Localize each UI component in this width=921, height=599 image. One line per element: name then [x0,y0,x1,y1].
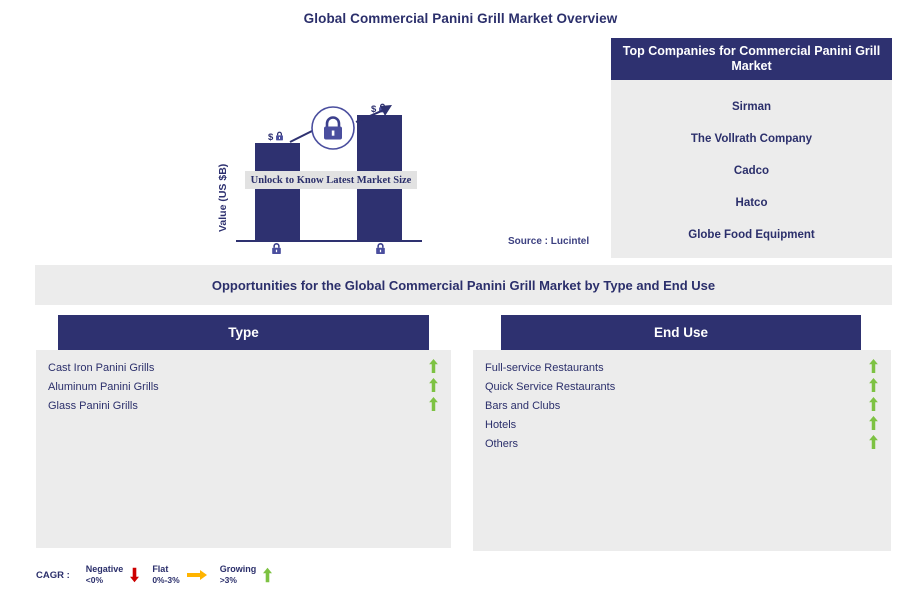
unlock-market-size-banner[interactable]: Unlock to Know Latest Market Size [245,171,417,189]
type-panel-header: Type [58,315,429,350]
cagr-legend-title: CAGR : [36,570,70,581]
arrow-up-icon [429,359,438,376]
arrow-up-icon [869,416,878,433]
bar-1-currency: $ [268,132,273,143]
page-title: Global Commercial Panini Grill Market Ov… [0,11,921,26]
lock-circle-icon [310,105,356,151]
chart-y-axis-label: Value (US $B) [214,152,232,244]
legend-growing-label: Growing [220,564,257,574]
list-item: Glass Panini Grills [36,396,451,415]
x-axis-lock-icon-1 [268,241,284,255]
end-use-item-label: Others [485,438,518,450]
end-use-item-label: Hotels [485,419,516,431]
x-axis-lock-icon-2 [372,241,388,255]
top-companies-header: Top Companies for Commercial Panini Gril… [611,38,892,80]
opportunities-band-title: Opportunities for the Global Commercial … [35,265,892,305]
list-item: Sirman [611,91,892,123]
list-item: Hatco [611,187,892,219]
arrow-up-icon [263,567,272,583]
list-item: Globe Food Equipment [611,219,892,251]
arrow-up-icon [429,378,438,395]
list-item: Cadco [611,155,892,187]
cagr-legend: CAGR : Negative <0% Flat 0%-3% Growing >… [36,560,356,590]
end-use-item-label: Full-service Restaurants [485,362,604,374]
arrow-down-icon [130,567,139,583]
legend-flat-label: Flat [152,564,168,574]
legend-entry-flat: Flat 0%-3% [152,564,213,586]
list-item: Hotels [473,415,891,434]
end-use-item-label: Quick Service Restaurants [485,381,615,393]
chart-x-axis [236,240,422,242]
list-item: Full-service Restaurants [473,358,891,377]
list-item: The Vollrath Company [611,123,892,155]
legend-entry-negative: Negative <0% [86,564,147,586]
list-item: Aluminum Panini Grills [36,377,451,396]
type-panel-list: Cast Iron Panini Grills Aluminum Panini … [36,350,451,548]
type-item-label: Cast Iron Panini Grills [48,362,154,374]
legend-negative-label: Negative [86,564,124,574]
type-item-label: Glass Panini Grills [48,400,138,412]
list-item: Quick Service Restaurants [473,377,891,396]
list-item: Cast Iron Panini Grills [36,358,451,377]
arrow-up-icon [869,359,878,376]
chart-source-note: Source : Lucintel [508,236,589,247]
chart-bar-1-value-label: $ [268,131,284,144]
end-use-panel-list: Full-service Restaurants Quick Service R… [473,350,891,551]
arrow-up-icon [869,397,878,414]
top-companies-list: Sirman The Vollrath Company Cadco Hatco … [611,80,892,258]
arrow-right-icon [187,570,207,580]
chart-bar-1 [255,143,300,240]
arrow-up-icon [429,397,438,414]
arrow-up-icon [869,378,878,395]
legend-flat-range: 0%-3% [152,575,179,586]
list-item: Others [473,434,891,453]
end-use-panel-header: End Use [501,315,861,350]
legend-negative-range: <0% [86,575,124,586]
arrow-up-icon [869,435,878,452]
list-item: Bars and Clubs [473,396,891,415]
end-use-item-label: Bars and Clubs [485,400,560,412]
type-item-label: Aluminum Panini Grills [48,381,159,393]
legend-entry-growing: Growing >3% [220,564,280,586]
lock-icon [275,131,284,144]
legend-growing-range: >3% [220,575,257,586]
